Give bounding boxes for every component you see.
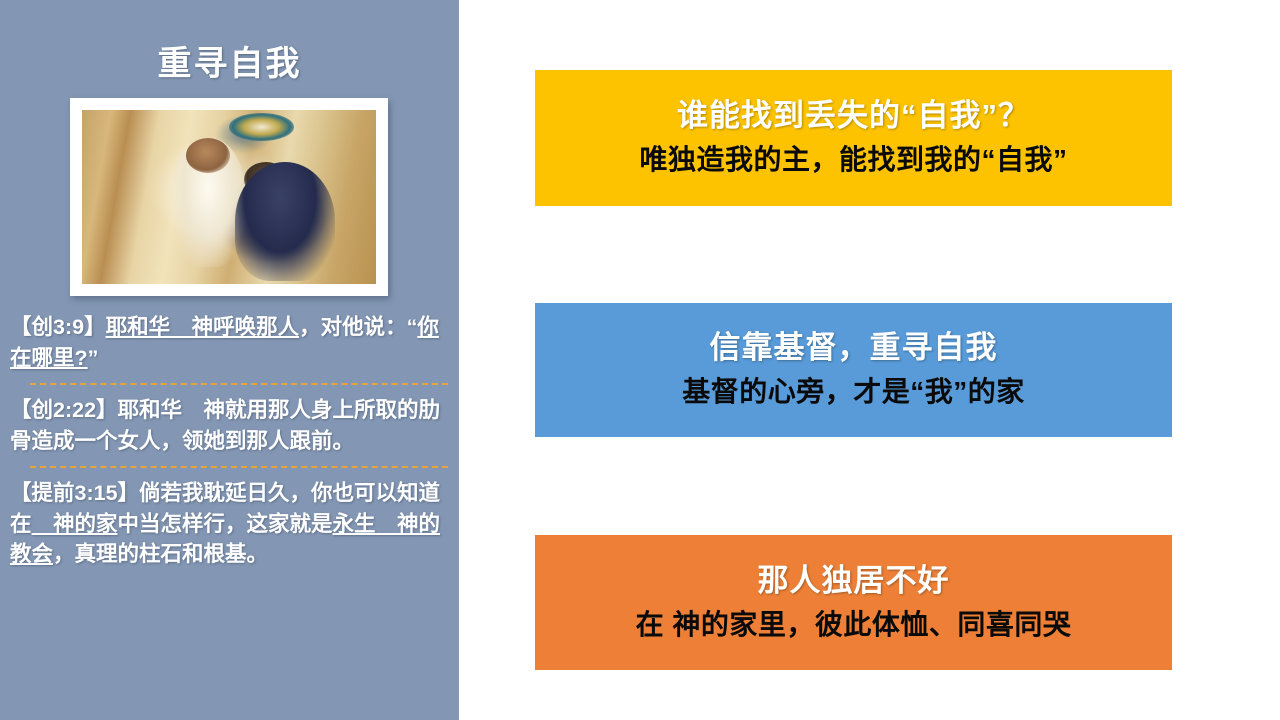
jesus-embrace-image bbox=[82, 110, 376, 284]
verse-plain-2-2: 中当怎样行，这家就是 bbox=[118, 512, 333, 536]
callout-blue-subline: 基督的心旁，才是“我”的家 bbox=[682, 374, 1025, 410]
verse-item-0: 【创3:9】耶和华 神呼唤那人，对他说：“你在哪里?” bbox=[10, 312, 450, 373]
verse-underline-2-1: 神的家 bbox=[32, 512, 118, 536]
callout-orange-headline: 那人独居不好 bbox=[758, 562, 950, 601]
callout-box-blue: 信靠基督，重寻自我 基督的心旁，才是“我”的家 bbox=[535, 303, 1172, 437]
figure-head-icon bbox=[186, 138, 230, 173]
verse-plain-0-1: ，对他说：“ bbox=[299, 315, 417, 339]
verse-plain-0-3: ” bbox=[88, 346, 99, 370]
callout-yellow-headline: 谁能找到丢失的“自我”？ bbox=[677, 97, 1030, 136]
verse-reference-2: 【提前3:15】 bbox=[10, 481, 139, 505]
verse-item-2: 【提前3:15】倘若我耽延日久，你也可以知道在 神的家中当怎样行，这家就是永生 … bbox=[10, 478, 450, 570]
callout-orange-subline: 在 神的家里，彼此体恤、同喜同哭 bbox=[636, 607, 1072, 643]
verse-plain-2-4: ，真理的柱石和根基。 bbox=[53, 542, 268, 566]
verse-underline-0-0: 耶和华 神呼唤那人 bbox=[106, 315, 300, 339]
verse-item-1: 【创2:22】耶和华 神就用那人身上所取的肋骨造成一个女人，领她到那人跟前。 bbox=[10, 395, 450, 456]
callout-yellow-subline: 唯独造我的主，能找到我的“自我” bbox=[639, 142, 1067, 178]
photo-frame bbox=[70, 98, 388, 296]
verse-reference-1: 【创2:22】 bbox=[10, 398, 118, 422]
verse-reference-0: 【创3:9】 bbox=[10, 315, 106, 339]
verse-list: 【创3:9】耶和华 神呼唤那人，对他说：“你在哪里?” 【创2:22】耶和华 神… bbox=[10, 312, 450, 570]
page-title: 重寻自我 bbox=[0, 36, 459, 85]
wall-medallion-decor bbox=[229, 113, 294, 141]
callout-blue-headline: 信靠基督，重寻自我 bbox=[710, 329, 998, 368]
verse-separator-2 bbox=[30, 466, 448, 468]
slide-canvas: 重寻自我 【创3:9】耶和华 神呼唤那人，对他说：“你在哪里?” 【创2:22】… bbox=[0, 0, 1280, 720]
callout-box-yellow: 谁能找到丢失的“自我”？ 唯独造我的主，能找到我的“自我” bbox=[535, 70, 1172, 206]
callout-box-orange: 那人独居不好 在 神的家里，彼此体恤、同喜同哭 bbox=[535, 535, 1172, 670]
kneeling-head-icon bbox=[244, 162, 288, 197]
verse-separator-1 bbox=[30, 383, 448, 385]
left-panel: 重寻自我 【创3:9】耶和华 神呼唤那人，对他说：“你在哪里?” 【创2:22】… bbox=[0, 0, 459, 720]
